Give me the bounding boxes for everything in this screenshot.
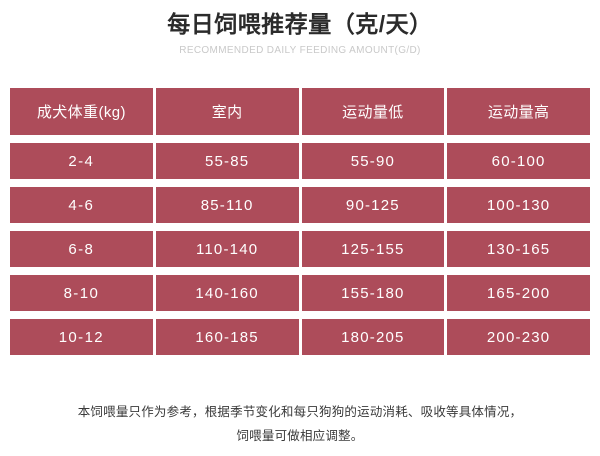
- cell-weight: 8-10: [10, 275, 153, 311]
- feeding-chart-page: 每日饲喂推荐量（克/天） RECOMMENDED DAILY FEEDING A…: [0, 0, 600, 456]
- cell-high-activity: 165-200: [447, 275, 590, 311]
- cell-weight: 4-6: [10, 187, 153, 223]
- cell-weight: 10-12: [10, 319, 153, 355]
- cell-low-activity: 155-180: [302, 275, 445, 311]
- footnote-line-2: 饲喂量可做相应调整。: [0, 424, 600, 448]
- footnote-line-1: 本饲喂量只作为参考，根据季节变化和每只狗狗的运动消耗、吸收等具体情况，: [0, 400, 600, 424]
- feeding-table: 成犬体重(kg) 室内 运动量低 运动量高 2-4 55-85 55-90 60…: [10, 88, 590, 355]
- table-row: 10-12 160-185 180-205 200-230: [10, 319, 590, 355]
- cell-high-activity: 200-230: [447, 319, 590, 355]
- cell-low-activity: 180-205: [302, 319, 445, 355]
- cell-low-activity: 55-90: [302, 143, 445, 179]
- cell-indoor: 160-185: [156, 319, 299, 355]
- table-row: 4-6 85-110 90-125 100-130: [10, 187, 590, 223]
- cell-low-activity: 125-155: [302, 231, 445, 267]
- column-header-low-activity: 运动量低: [302, 88, 445, 135]
- table-row: 2-4 55-85 55-90 60-100: [10, 143, 590, 179]
- cell-weight: 6-8: [10, 231, 153, 267]
- page-subtitle: RECOMMENDED DAILY FEEDING AMOUNT(G/D): [0, 43, 600, 59]
- title-block: 每日饲喂推荐量（克/天） RECOMMENDED DAILY FEEDING A…: [0, 0, 600, 59]
- cell-high-activity: 130-165: [447, 231, 590, 267]
- cell-low-activity: 90-125: [302, 187, 445, 223]
- cell-indoor: 110-140: [156, 231, 299, 267]
- column-header-weight: 成犬体重(kg): [10, 88, 153, 135]
- cell-indoor: 85-110: [156, 187, 299, 223]
- column-header-indoor: 室内: [156, 88, 299, 135]
- page-title: 每日饲喂推荐量（克/天）: [0, 9, 600, 39]
- table-row: 6-8 110-140 125-155 130-165: [10, 231, 590, 267]
- cell-weight: 2-4: [10, 143, 153, 179]
- cell-indoor: 140-160: [156, 275, 299, 311]
- table-row: 8-10 140-160 155-180 165-200: [10, 275, 590, 311]
- footnote: 本饲喂量只作为参考，根据季节变化和每只狗狗的运动消耗、吸收等具体情况， 饲喂量可…: [0, 400, 600, 448]
- cell-indoor: 55-85: [156, 143, 299, 179]
- table-header-row: 成犬体重(kg) 室内 运动量低 运动量高: [10, 88, 590, 135]
- cell-high-activity: 60-100: [447, 143, 590, 179]
- cell-high-activity: 100-130: [447, 187, 590, 223]
- column-header-high-activity: 运动量高: [447, 88, 590, 135]
